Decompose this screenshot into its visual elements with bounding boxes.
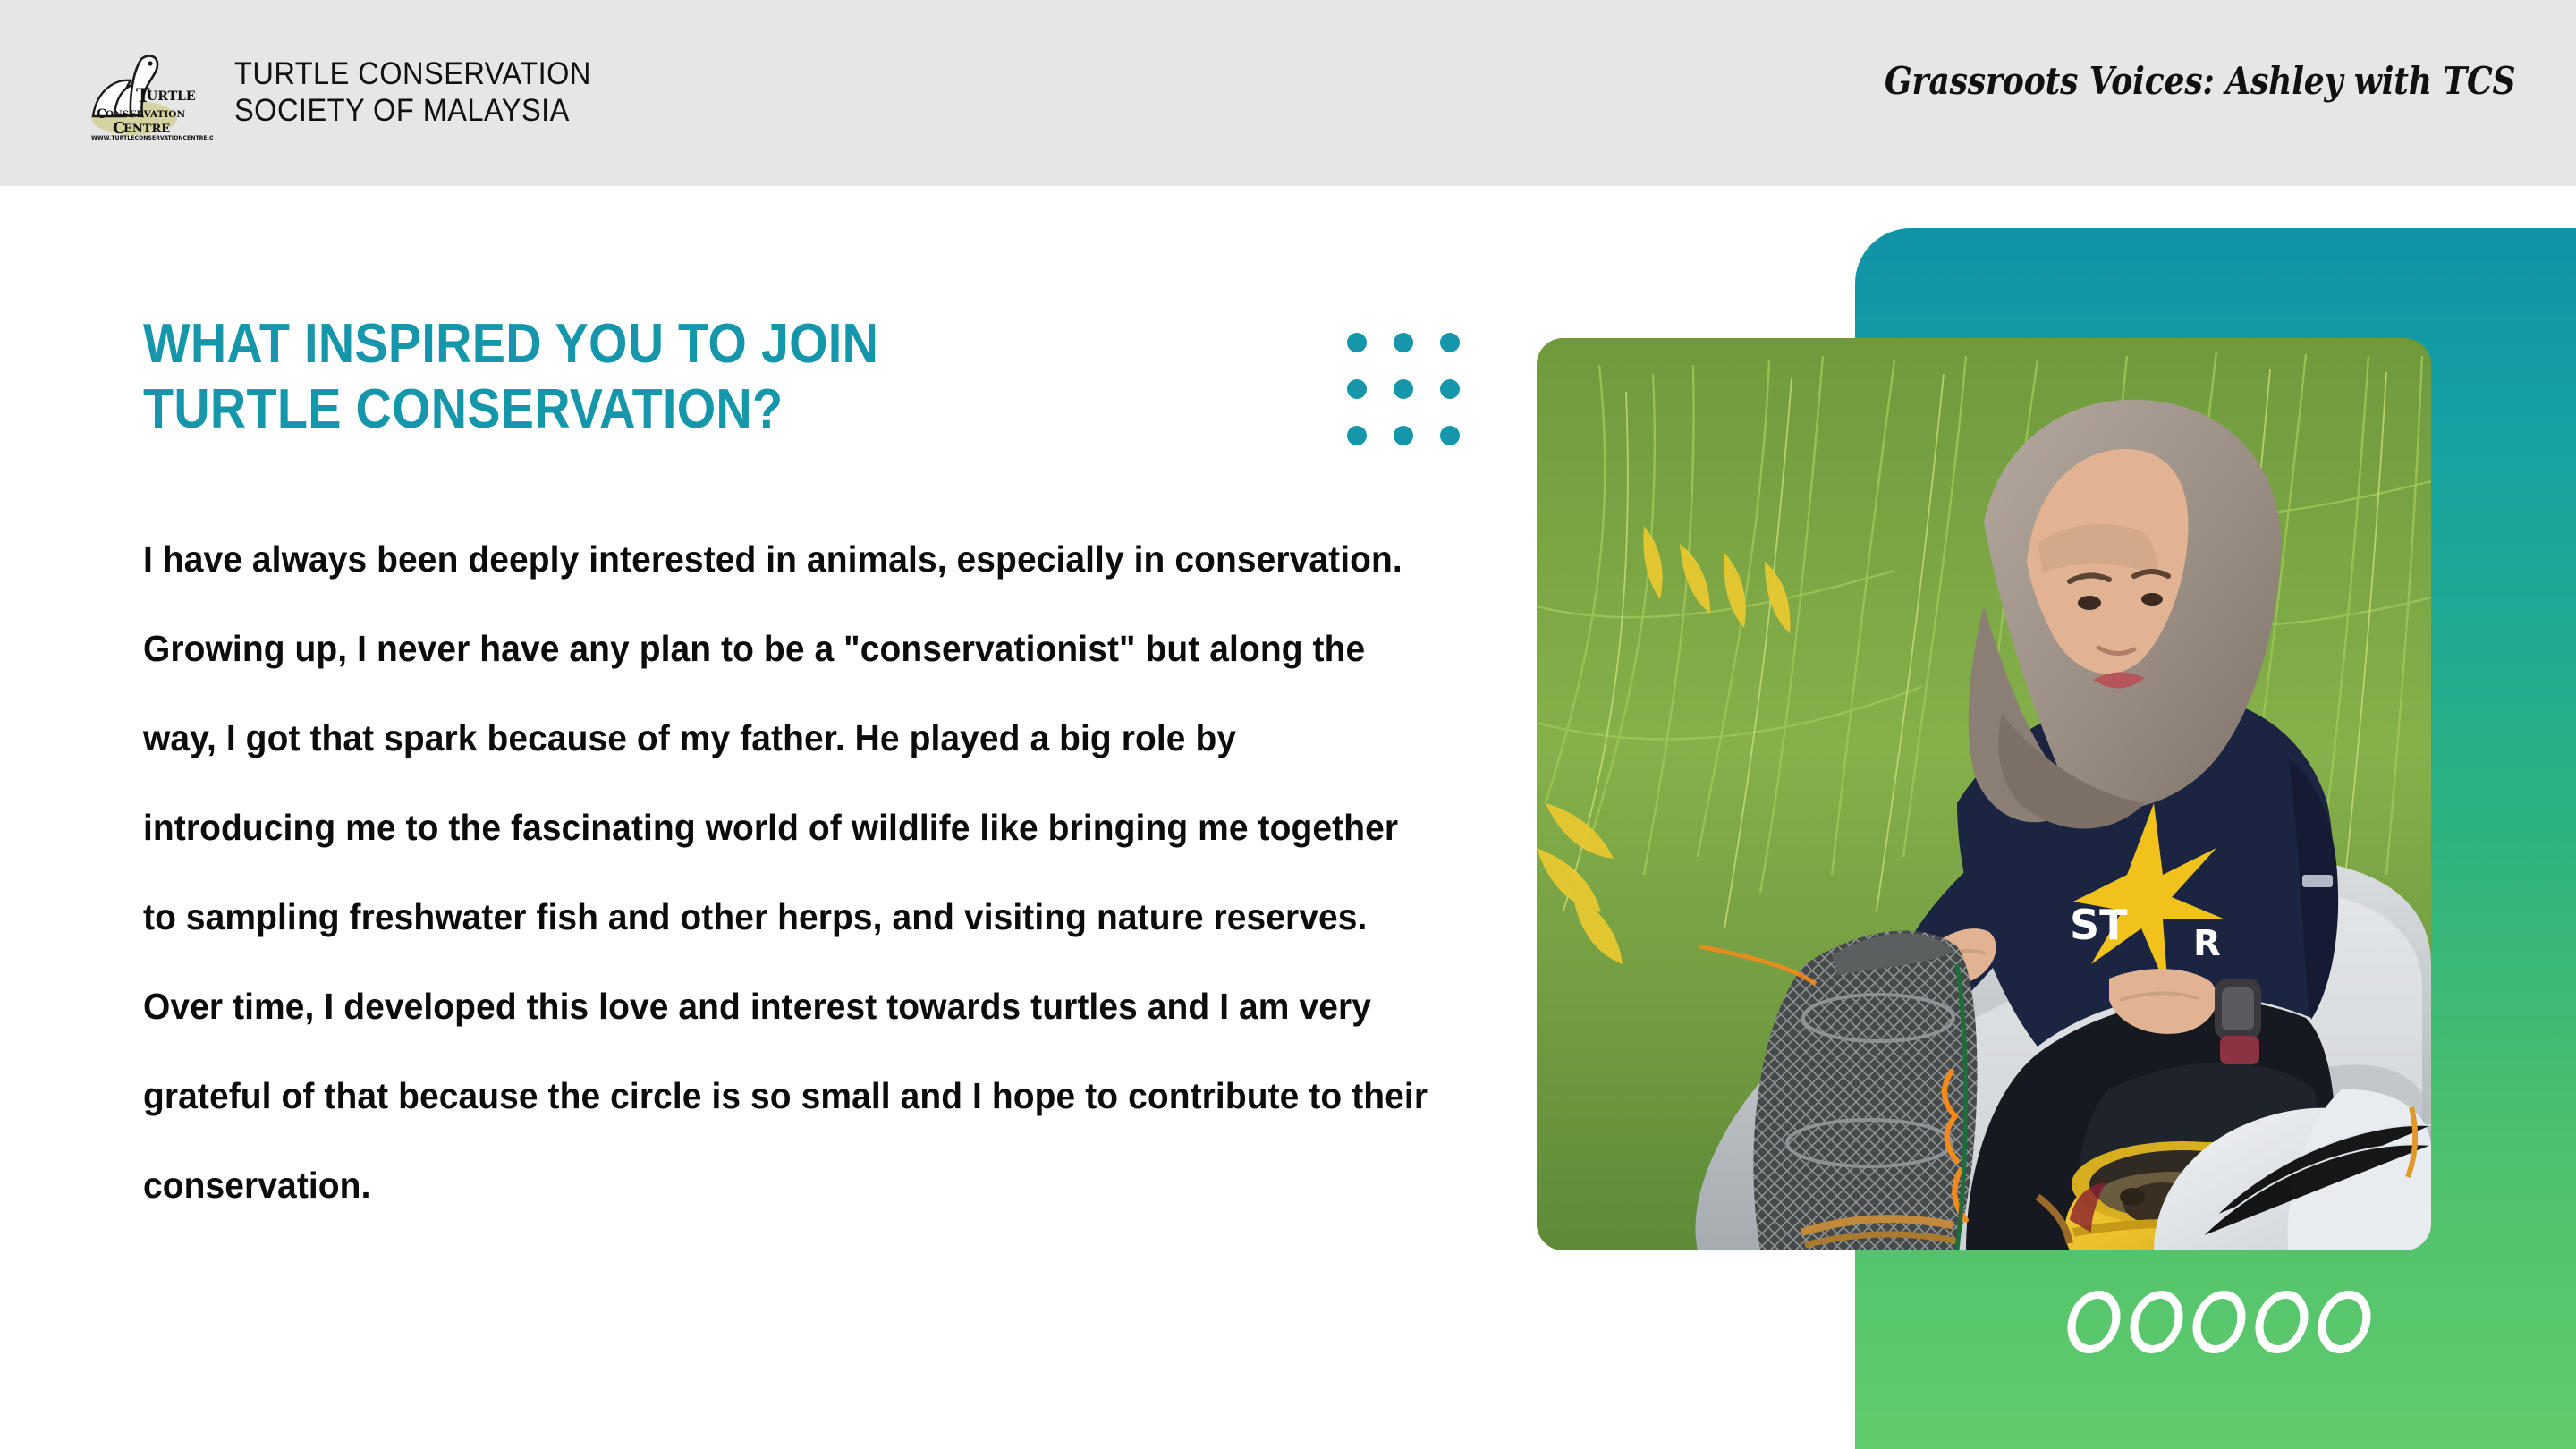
dot-icon [1394,426,1413,445]
dot-icon [1440,333,1460,352]
svg-text:ENTRE: ENTRE [123,123,170,136]
dot-icon [1440,426,1460,445]
brand-lockup: T URTLE C ONSERVATION C ENTRE WWW.TURTLE… [79,45,618,141]
dot-icon [1347,379,1367,399]
page-title: WHAT INSPIRED YOU TO JOIN TURTLE CONSERV… [143,311,1093,442]
answer-paragraph: I have always been deeply interested in … [143,514,1435,1230]
svg-text:WWW.TURTLECONSERVATIONCENTRE.O: WWW.TURTLECONSERVATIONCENTRE.ORG [91,135,213,141]
ring-icon [2063,1291,2124,1353]
dot-icon [1394,333,1413,352]
dot-grid-decoration [1347,333,1460,445]
slide-root: T URTLE C ONSERVATION C ENTRE WWW.TURTLE… [0,0,2576,1449]
ring-icon [2125,1291,2187,1353]
ring-icon [2188,1291,2250,1353]
dot-icon [1440,379,1460,399]
dot-icon [1347,333,1367,352]
dot-icon [1394,379,1413,399]
svg-text:URTLE: URTLE [147,89,196,104]
turtle-conservation-centre-logo-icon: T URTLE C ONSERVATION C ENTRE WWW.TURTLE… [79,45,213,141]
header-bar: T URTLE C ONSERVATION C ENTRE WWW.TURTLE… [0,0,2576,186]
field-work-photo: ST R [1537,338,2431,1250]
ring-decoration [2068,1291,2370,1353]
ring-icon [2313,1291,2375,1353]
organization-name: TURTLE CONSERVATION SOCIETY OF MALAYSIA [234,56,591,129]
svg-text:ST: ST [2070,901,2128,949]
dot-icon [1347,426,1367,445]
ring-icon [2250,1291,2312,1353]
series-title: Grassroots Voices: Ashley with TCS [1884,59,2515,103]
